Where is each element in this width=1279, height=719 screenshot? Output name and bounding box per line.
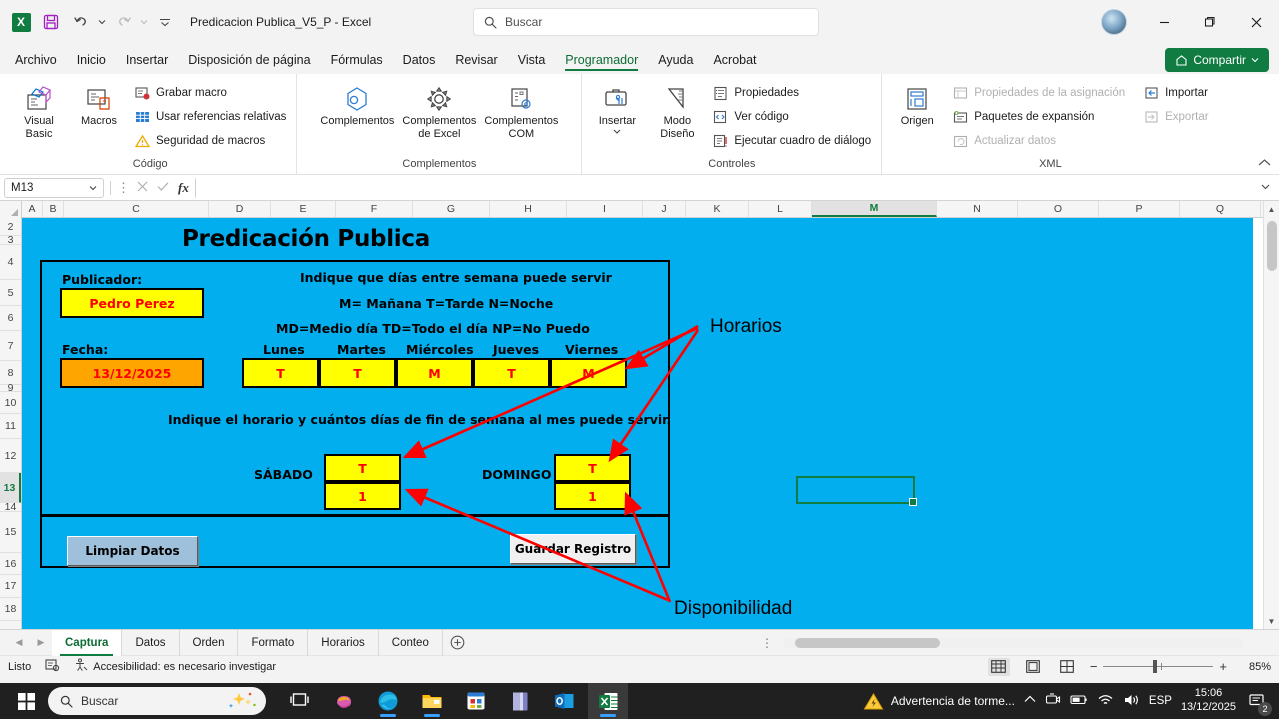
language-indicator[interactable]: ESP — [1149, 695, 1172, 707]
weekday-header-miercoles: Miércoles — [406, 342, 474, 357]
import-icon — [1143, 85, 1159, 101]
column-header-q[interactable]: Q — [1180, 201, 1261, 217]
row-header-3[interactable]: 3 — [0, 236, 21, 245]
search-icon — [484, 16, 497, 29]
propiedades-button[interactable]: Propiedades — [708, 82, 875, 104]
sheet-tab-orden[interactable]: Orden — [180, 630, 239, 656]
accept-icon — [157, 181, 169, 195]
weekday-cell-martes[interactable]: T — [319, 358, 396, 388]
complementos-de-excel-label: Complementos de Excel — [401, 115, 477, 140]
excel-logo-icon: X — [6, 7, 36, 37]
tab-ayuda[interactable]: Ayuda — [649, 49, 702, 74]
record-macro-status-icon[interactable] — [45, 658, 60, 675]
legend-shifts: M= Mañana T=Tarde N=Noche — [339, 296, 553, 311]
copilot-icon[interactable] — [324, 683, 364, 719]
sunday-count-cell[interactable]: 1 — [554, 482, 631, 510]
form-divider — [42, 514, 668, 517]
sheet-tab-horarios[interactable]: Horarios — [308, 630, 378, 656]
group-label-xml: XML — [888, 158, 1212, 174]
tab-vista[interactable]: Vista — [509, 49, 555, 74]
column-header-d[interactable]: D — [209, 201, 271, 217]
usar-referencias-relativas-button[interactable]: Usar referencias relativas — [130, 106, 290, 128]
file-explorer-icon[interactable] — [412, 683, 452, 719]
clock-date: 13/12/2025 — [1181, 701, 1236, 715]
actualizar-datos-label: Actualizar datos — [974, 135, 1056, 147]
horizontal-scroll-thumb[interactable] — [795, 638, 940, 648]
share-label: Compartir — [1193, 53, 1246, 67]
tab-revisar[interactable]: Revisar — [446, 49, 506, 74]
group-label-codigo: Código — [10, 158, 290, 174]
column-header-l[interactable]: L — [749, 201, 812, 217]
row-header-17[interactable]: 17 — [0, 575, 21, 598]
saturday-shift-cell[interactable]: T — [324, 454, 401, 482]
status-bar: Listo Accesibilidad: es necesario invest… — [0, 655, 1279, 677]
weekday-header-martes: Martes — [337, 342, 386, 357]
copilot-sparkle-icon — [226, 690, 260, 712]
row-headers: 2 3 4 5 6 7 8 9 10 11 12 13 14 15 16 17 … — [0, 218, 22, 629]
row-header-18[interactable]: 18 — [0, 598, 21, 621]
minimize-button[interactable] — [1141, 0, 1187, 44]
ribbon-group-xml: Origen Propiedades de la asignación Paqu… — [881, 74, 1218, 174]
row-header-16[interactable]: 16 — [0, 553, 21, 575]
seguridad-de-macros-button[interactable]: Seguridad de macros — [130, 130, 290, 152]
complementos-button[interactable]: Complementos — [317, 80, 397, 131]
propiedades-de-la-asignacion-label: Propiedades de la asignación — [974, 87, 1125, 99]
form-title: Predicación Publica — [182, 226, 430, 252]
view-code-icon — [712, 109, 728, 125]
modo-diseno-button[interactable]: Modo Diseño — [648, 80, 706, 143]
macro-security-icon — [134, 133, 150, 149]
column-header-n[interactable]: N — [937, 201, 1018, 217]
row-header-15[interactable]: 15 — [0, 512, 21, 553]
tab-acrobat[interactable]: Acrobat — [704, 49, 765, 74]
task-view-icon[interactable] — [280, 683, 320, 719]
run-dialog-icon — [712, 133, 728, 149]
storm-warning[interactable]: Advertencia de torme... — [863, 692, 1015, 711]
avatar[interactable] — [1101, 9, 1127, 35]
grabar-macro-label: Grabar macro — [156, 87, 227, 99]
weekday-cell-viernes[interactable]: M — [550, 358, 627, 388]
ejecutar-cuadro-de-dialogo-label: Ejecutar cuadro de diálogo — [734, 135, 871, 147]
notifications-icon[interactable]: 2 — [1245, 689, 1269, 713]
chevron-down-icon — [613, 128, 621, 135]
exportar-button: Exportar — [1139, 106, 1212, 128]
sheet-canvas[interactable]: Predicación Publica Publicador: Pedro Pe… — [22, 218, 1279, 629]
chevron-down-icon — [89, 184, 97, 192]
usar-referencias-relativas-label: Usar referencias relativas — [156, 111, 286, 123]
add-sheet-icon[interactable] — [443, 635, 473, 650]
zoom-level[interactable]: 85% — [1239, 661, 1271, 673]
visual-basic-icon — [24, 83, 54, 115]
sheet-tab-bar: ◀ ▶ Captura Datos Orden Formato Horarios… — [0, 629, 1279, 655]
row-header-13[interactable]: 13 — [0, 473, 21, 503]
prev-sheet-icon[interactable]: ◀ — [8, 637, 30, 648]
zoom-slider[interactable]: − + — [1090, 659, 1227, 674]
clock-time: 15:06 — [1181, 687, 1236, 701]
sheet-tab-formato[interactable]: Formato — [238, 630, 308, 656]
column-header-m[interactable]: M — [812, 201, 937, 217]
sunday-label: DOMINGO — [482, 467, 551, 482]
clock[interactable]: 15:06 13/12/2025 — [1181, 687, 1236, 715]
column-header-c[interactable]: C — [64, 201, 209, 217]
store-icon[interactable] — [456, 683, 496, 719]
saturday-label: SÁBADO — [254, 467, 313, 482]
windows-start-icon[interactable] — [4, 683, 48, 719]
column-header-b[interactable]: B — [43, 201, 64, 217]
row-header-9[interactable]: 9 — [0, 385, 21, 392]
group-label-controles: Controles — [588, 158, 875, 174]
row-header-11[interactable]: 11 — [0, 414, 21, 439]
restore-button[interactable] — [1187, 0, 1233, 44]
com-addins-icon — [506, 83, 536, 115]
redo-icon[interactable] — [108, 7, 138, 37]
column-header-e[interactable]: E — [271, 201, 336, 217]
share-icon — [1175, 54, 1188, 67]
xml-source-icon — [902, 83, 932, 115]
weekday-cell-jueves[interactable]: T — [473, 358, 550, 388]
battery-icon[interactable] — [1070, 693, 1088, 709]
name-box-value: M13 — [11, 182, 33, 194]
refresh-data-icon — [952, 133, 968, 149]
ribbon-tab-strip: Archivo Inicio Insertar Disposición de p… — [0, 44, 1279, 74]
tab-insertar[interactable]: Insertar — [117, 49, 177, 74]
expand-formula-bar-icon[interactable] — [1255, 182, 1275, 193]
taskbar: Buscar Advertencia de torme. — [0, 683, 1279, 719]
accessibility-icon — [74, 658, 88, 675]
ejecutar-cuadro-de-dialogo-button[interactable]: Ejecutar cuadro de diálogo — [708, 130, 875, 152]
taskbar-apps — [280, 683, 628, 719]
undo-dropdown-icon[interactable] — [96, 7, 108, 37]
ribbon-group-codigo: Visual Basic Macros Grabar macro — [4, 74, 296, 174]
chevron-down-icon — [1251, 56, 1259, 64]
column-headers: A B C D E F G H I J K L M N O P Q — [0, 201, 1279, 218]
ribbon: Visual Basic Macros Grabar macro — [0, 74, 1279, 175]
window-controls — [1101, 0, 1279, 44]
actualizar-datos-button: Actualizar datos — [948, 130, 1129, 152]
row-header-7[interactable]: 7 — [0, 331, 21, 361]
next-sheet-icon[interactable]: ▶ — [30, 637, 52, 648]
share-button[interactable]: Compartir — [1165, 48, 1269, 72]
save-icon[interactable] — [36, 7, 66, 37]
complementos-de-excel-button[interactable]: Complementos de Excel — [399, 80, 479, 143]
instruction-weekdays: Indique que días entre semana puede serv… — [300, 270, 612, 285]
modo-diseno-label: Modo Diseño — [650, 115, 704, 140]
weekday-cell-lunes[interactable]: T — [242, 358, 319, 388]
notification-badge: 2 — [1258, 702, 1272, 716]
record-macro-icon — [134, 85, 150, 101]
fecha-label: Fecha: — [62, 342, 108, 357]
name-box[interactable]: M13 — [4, 178, 104, 198]
tab-formulas[interactable]: Fórmulas — [322, 49, 392, 74]
volume-icon[interactable] — [1123, 693, 1140, 710]
selected-cell-m13[interactable] — [796, 476, 915, 504]
camera-icon[interactable] — [1045, 692, 1061, 710]
instruction-weekend: Indique el horario y cuántos días de fin… — [168, 412, 671, 427]
export-icon — [1143, 109, 1159, 125]
row-header-10[interactable]: 10 — [0, 392, 21, 414]
tab-datos[interactable]: Datos — [394, 49, 445, 74]
design-mode-icon — [662, 83, 692, 115]
publicador-label: Publicador: — [62, 272, 142, 287]
column-header-a[interactable]: A — [22, 201, 43, 217]
formula-bar: M13 ⋮ fx — [0, 175, 1279, 201]
scroll-down-icon[interactable]: ▼ — [1264, 613, 1279, 629]
relative-refs-icon — [134, 109, 150, 125]
vertical-scrollbar[interactable]: ▲ ▼ — [1263, 201, 1279, 629]
select-all-button[interactable] — [0, 201, 22, 218]
row-header-5[interactable]: 5 — [0, 280, 21, 306]
group-label-complementos: Complementos — [303, 158, 575, 174]
guardar-registro-button[interactable]: Guardar Registro — [510, 534, 636, 564]
ribbon-group-complementos: Complementos Complementos de Excel Compl… — [296, 74, 581, 174]
accessibility-text: Accesibilidad: es necesario investigar — [93, 661, 276, 673]
annotation-horarios: Horarios — [710, 316, 782, 338]
zoom-track[interactable] — [1103, 666, 1213, 667]
visual-basic-label: Visual Basic — [12, 115, 66, 140]
outlook-icon[interactable] — [544, 683, 584, 719]
system-tray: Advertencia de torme... ESP 15:06 13/12/… — [863, 687, 1275, 715]
seguridad-de-macros-label: Seguridad de macros — [156, 135, 265, 147]
column-header-j[interactable]: J — [643, 201, 686, 217]
scroll-up-icon[interactable]: ▲ — [1264, 201, 1279, 217]
ver-codigo-button[interactable]: Ver código — [708, 106, 875, 128]
legend-daytypes: MD=Medio día TD=Todo el día NP=No Puedo — [276, 321, 590, 336]
tab-programador[interactable]: Programador — [556, 49, 647, 74]
macros-icon — [84, 83, 114, 115]
propiedades-label: Propiedades — [734, 87, 799, 99]
insert-control-icon — [602, 83, 632, 115]
map-properties-icon — [952, 85, 968, 101]
normal-view-icon[interactable] — [988, 658, 1010, 676]
weekday-header-jueves: Jueves — [493, 342, 539, 357]
search-placeholder: Buscar — [505, 15, 542, 29]
origen-button[interactable]: Origen — [888, 80, 946, 131]
collapse-ribbon-button[interactable] — [1258, 158, 1271, 170]
visual-basic-button[interactable]: Visual Basic — [10, 80, 68, 143]
column-header-g[interactable]: G — [413, 201, 490, 217]
horizontal-scrollbar[interactable] — [783, 635, 1263, 651]
paquetes-de-expansion-label: Paquetes de expansión — [974, 111, 1094, 123]
publicador-field[interactable]: Pedro Perez — [60, 288, 204, 318]
addins-icon — [342, 83, 372, 115]
sheet-tab-captura[interactable]: Captura — [52, 630, 122, 656]
complementos-com-button[interactable]: Complementos COM — [481, 80, 561, 143]
column-header-k[interactable]: K — [686, 201, 749, 217]
fx-icon[interactable]: fx — [178, 180, 189, 196]
row-header-4[interactable]: 4 — [0, 245, 21, 280]
column-header-i[interactable]: I — [567, 201, 643, 217]
grabar-macro-button[interactable]: Grabar macro — [130, 82, 290, 104]
tab-inicio[interactable]: Inicio — [68, 49, 115, 74]
insertar-control-button[interactable]: Insertar — [588, 80, 646, 138]
tab-archivo[interactable]: Archivo — [6, 49, 66, 74]
macros-button[interactable]: Macros — [70, 80, 128, 131]
qat-overflow-icon[interactable] — [150, 7, 180, 37]
propiedades-de-la-asignacion-button: Propiedades de la asignación — [948, 82, 1129, 104]
title-bar: X Predicacion Publica_V5_P - Excel Busca… — [0, 0, 1279, 44]
fecha-field[interactable]: 13/12/2025 — [60, 358, 204, 388]
close-button[interactable] — [1233, 0, 1279, 44]
tab-disposicion-de-pagina[interactable]: Disposición de página — [179, 49, 319, 74]
spreadsheet-grid: A B C D E F G H I J K L M N O P Q 2 3 4 … — [0, 201, 1279, 629]
redo-dropdown-icon[interactable] — [138, 7, 150, 37]
sunday-shift-cell[interactable]: T — [554, 454, 631, 482]
formula-input[interactable] — [195, 178, 1255, 198]
cancel-icon — [137, 181, 148, 195]
page-layout-view-icon[interactable] — [1022, 658, 1044, 676]
weekday-header-viernes: Viernes — [565, 342, 618, 357]
wifi-icon[interactable] — [1097, 693, 1114, 710]
row-header-6[interactable]: 6 — [0, 306, 21, 331]
storm-warning-text: Advertencia de torme... — [891, 694, 1015, 708]
complementos-label: Complementos — [320, 115, 394, 128]
row-header-12[interactable]: 12 — [0, 439, 21, 473]
weekday-cell-miercoles[interactable]: M — [396, 358, 473, 388]
row-header-14[interactable]: 14 — [0, 503, 21, 512]
expansion-packs-icon — [952, 109, 968, 125]
vertical-scroll-thumb[interactable] — [1267, 221, 1277, 271]
properties-icon — [712, 85, 728, 101]
complementos-com-label: Complementos COM — [483, 115, 559, 140]
macros-label: Macros — [81, 115, 117, 128]
page-break-view-icon[interactable] — [1056, 658, 1078, 676]
exportar-label: Exportar — [1165, 111, 1208, 123]
saturday-count-cell[interactable]: 1 — [324, 482, 401, 510]
column-header-f[interactable]: F — [336, 201, 413, 217]
accessibility-status[interactable]: Accesibilidad: es necesario investigar — [74, 658, 276, 675]
paquetes-de-expansion-button[interactable]: Paquetes de expansión — [948, 106, 1129, 128]
taskbar-search-placeholder: Buscar — [81, 694, 118, 708]
sheet-tab-datos[interactable]: Datos — [122, 630, 179, 656]
taskbar-search[interactable]: Buscar — [48, 687, 266, 715]
zoom-thumb[interactable] — [1153, 660, 1157, 673]
importar-button[interactable]: Importar — [1139, 82, 1212, 104]
zoom-in-button[interactable]: + — [1219, 659, 1227, 674]
column-header-h[interactable]: H — [490, 201, 567, 217]
search-box[interactable]: Buscar — [473, 8, 819, 36]
weekday-header-lunes: Lunes — [263, 342, 305, 357]
ver-codigo-label: Ver código — [734, 111, 788, 123]
zoom-out-button[interactable]: − — [1090, 659, 1098, 674]
ribbon-group-controles: Insertar Modo Diseño Propiedades — [581, 74, 881, 174]
excel-taskbar-icon[interactable] — [588, 683, 628, 719]
insertar-label: Insertar — [599, 115, 636, 128]
origen-label: Origen — [901, 115, 934, 128]
column-header-o[interactable]: O — [1018, 201, 1099, 217]
undo-icon[interactable] — [66, 7, 96, 37]
storm-warning-icon — [863, 692, 884, 711]
sheet-tab-conteo[interactable]: Conteo — [379, 630, 443, 656]
formula-bar-more-icon[interactable]: ⋮ — [117, 180, 131, 196]
onenote-icon[interactable] — [500, 683, 540, 719]
search-icon — [60, 695, 73, 708]
edge-icon[interactable] — [368, 683, 408, 719]
excel-addins-icon — [424, 83, 454, 115]
tray-expand-icon[interactable] — [1024, 695, 1036, 707]
sheet-options-icon[interactable]: ⋮ — [761, 636, 774, 650]
column-header-p[interactable]: P — [1099, 201, 1180, 217]
status-mode: Listo — [8, 661, 31, 673]
limpiar-datos-button[interactable]: Limpiar Datos — [67, 536, 198, 566]
importar-label: Importar — [1165, 87, 1208, 99]
document-title: Predicacion Publica_V5_P - Excel — [190, 15, 371, 29]
annotation-disponibilidad: Disponibilidad — [674, 598, 792, 620]
